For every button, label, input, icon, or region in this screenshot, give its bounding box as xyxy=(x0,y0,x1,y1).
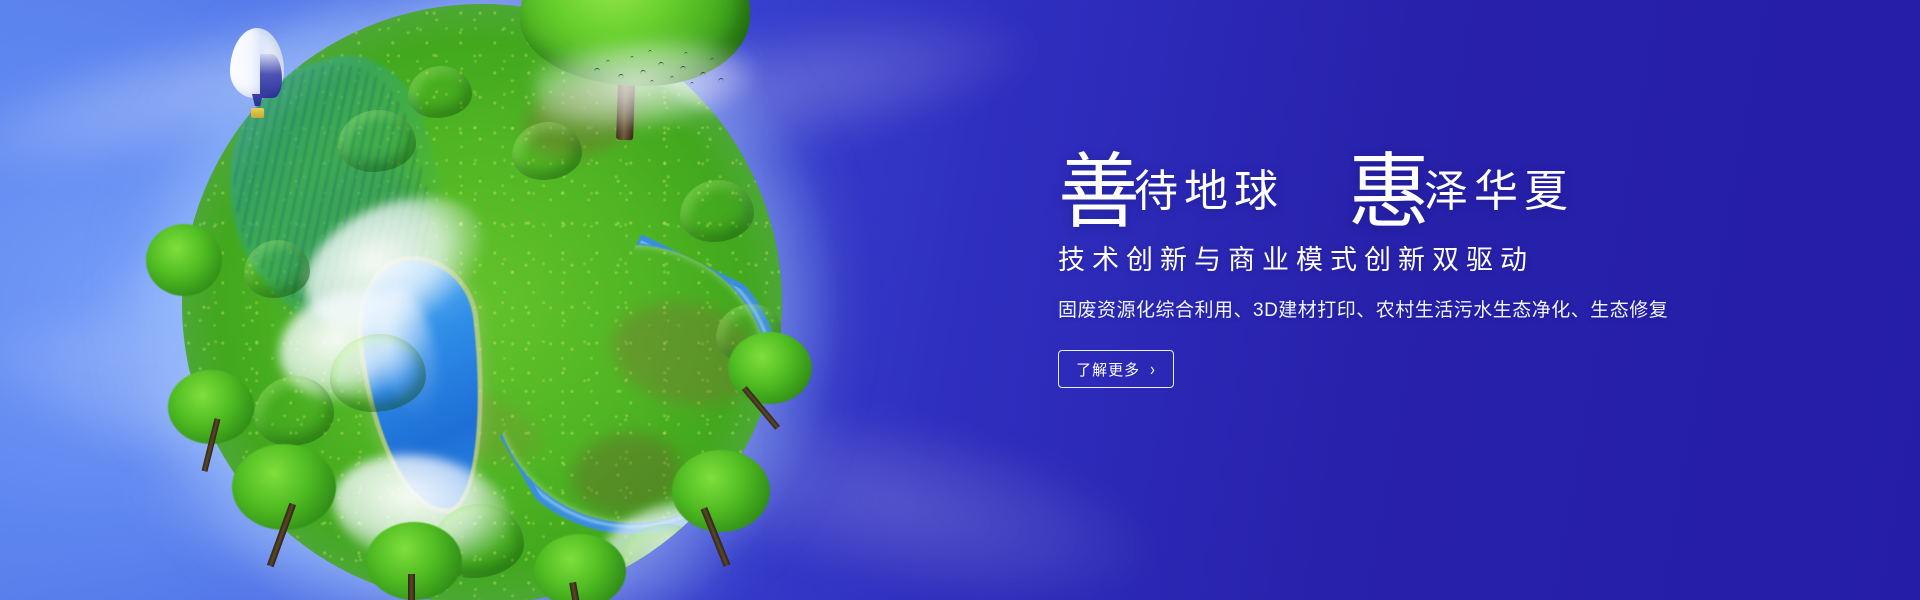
balloon-neck xyxy=(252,94,263,106)
hero-banner: 善 待地球 惠 泽华夏 技术创新与商业模式创新双驱动 固废资源化综合利用、3D建… xyxy=(0,0,1920,600)
learn-more-label: 了解更多 xyxy=(1076,359,1140,380)
tree-canopy xyxy=(338,110,416,172)
bird-flock-icon xyxy=(592,50,732,96)
tree-canopy xyxy=(408,66,472,118)
headline-small-text-2: 泽华夏 xyxy=(1424,170,1574,214)
headline-small-text-1: 待地球 xyxy=(1134,170,1284,214)
headline-big-char-1: 善 xyxy=(1058,152,1140,234)
tree-canopy xyxy=(244,240,310,298)
hero-copy-block: 善 待地球 惠 泽华夏 技术创新与商业模式创新双驱动 固废资源化综合利用、3D建… xyxy=(1058,118,1818,388)
balloon-stripe xyxy=(260,54,282,98)
tree-canopy xyxy=(330,334,426,412)
tree-canopy xyxy=(680,180,754,242)
balloon-basket xyxy=(251,108,264,118)
hot-air-balloon-icon xyxy=(230,28,284,122)
chevron-right-icon: › xyxy=(1150,360,1156,379)
learn-more-button[interactable]: 了解更多 › xyxy=(1058,350,1174,388)
subheadline: 技术创新与商业模式创新双驱动 xyxy=(1058,238,1818,277)
headline-big-char-2: 惠 xyxy=(1348,152,1430,234)
tree-canopy xyxy=(620,524,706,594)
description-text: 固废资源化综合利用、3D建材打印、农村生活污水生态净化、生态修复 xyxy=(1058,295,1818,322)
page-title: 善 待地球 惠 泽华夏 xyxy=(1058,118,1818,226)
tree-canopy xyxy=(254,376,334,446)
